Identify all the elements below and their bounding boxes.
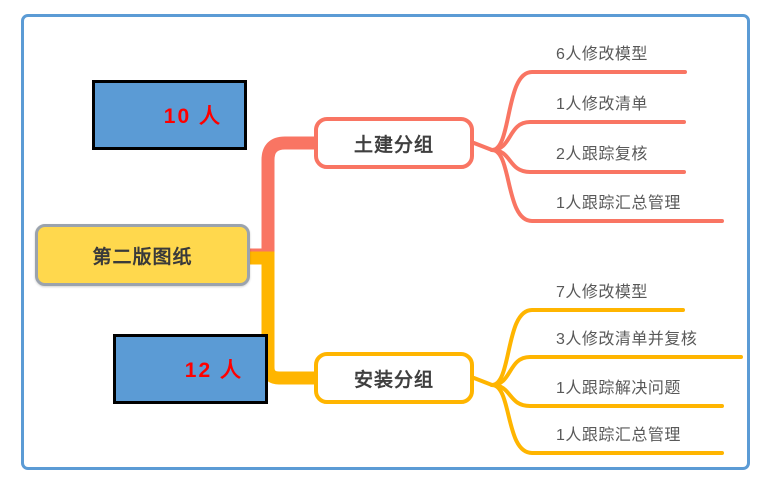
mindmap-canvas: 10 人 12 人 第二版图纸 土建分组 安装分组 6人修改模型 1人修改清单 … bbox=[0, 0, 772, 493]
leaf-install-4[interactable]: 1人跟踪汇总管理 bbox=[556, 421, 681, 445]
leaf-civil-2-label: 1人修改清单 bbox=[556, 96, 648, 113]
leaf-civil-3[interactable]: 2人跟踪复核 bbox=[556, 140, 648, 164]
branch-node-civil-label: 土建分组 bbox=[354, 130, 434, 157]
callout-install-headcount[interactable]: 12 人 bbox=[113, 334, 268, 404]
branch-node-install-label: 安装分组 bbox=[354, 365, 434, 392]
center-node[interactable]: 第二版图纸 bbox=[35, 224, 250, 286]
leaf-install-1[interactable]: 7人修改模型 bbox=[556, 278, 648, 302]
callout-civil-headcount-label: 10 人 bbox=[164, 100, 222, 130]
leaf-install-3[interactable]: 1人跟踪解决问题 bbox=[556, 374, 681, 398]
leaf-install-4-label: 1人跟踪汇总管理 bbox=[556, 427, 681, 444]
leaf-install-2[interactable]: 3人修改清单并复核 bbox=[556, 325, 697, 349]
leaf-civil-4[interactable]: 1人跟踪汇总管理 bbox=[556, 189, 681, 213]
callout-install-headcount-label: 12 人 bbox=[185, 354, 243, 384]
leaf-civil-3-label: 2人跟踪复核 bbox=[556, 146, 648, 163]
leaf-install-2-label: 3人修改清单并复核 bbox=[556, 331, 697, 348]
center-node-label: 第二版图纸 bbox=[92, 242, 192, 269]
leaf-civil-2[interactable]: 1人修改清单 bbox=[556, 90, 648, 114]
branch-node-civil[interactable]: 土建分组 bbox=[314, 117, 474, 169]
callout-civil-headcount[interactable]: 10 人 bbox=[92, 80, 247, 150]
leaf-install-1-label: 7人修改模型 bbox=[556, 284, 648, 301]
leaf-civil-1-label: 6人修改模型 bbox=[556, 46, 648, 63]
branch-node-install[interactable]: 安装分组 bbox=[314, 352, 474, 404]
leaf-install-3-label: 1人跟踪解决问题 bbox=[556, 380, 681, 397]
leaf-civil-4-label: 1人跟踪汇总管理 bbox=[556, 195, 681, 212]
leaf-civil-1[interactable]: 6人修改模型 bbox=[556, 40, 648, 64]
